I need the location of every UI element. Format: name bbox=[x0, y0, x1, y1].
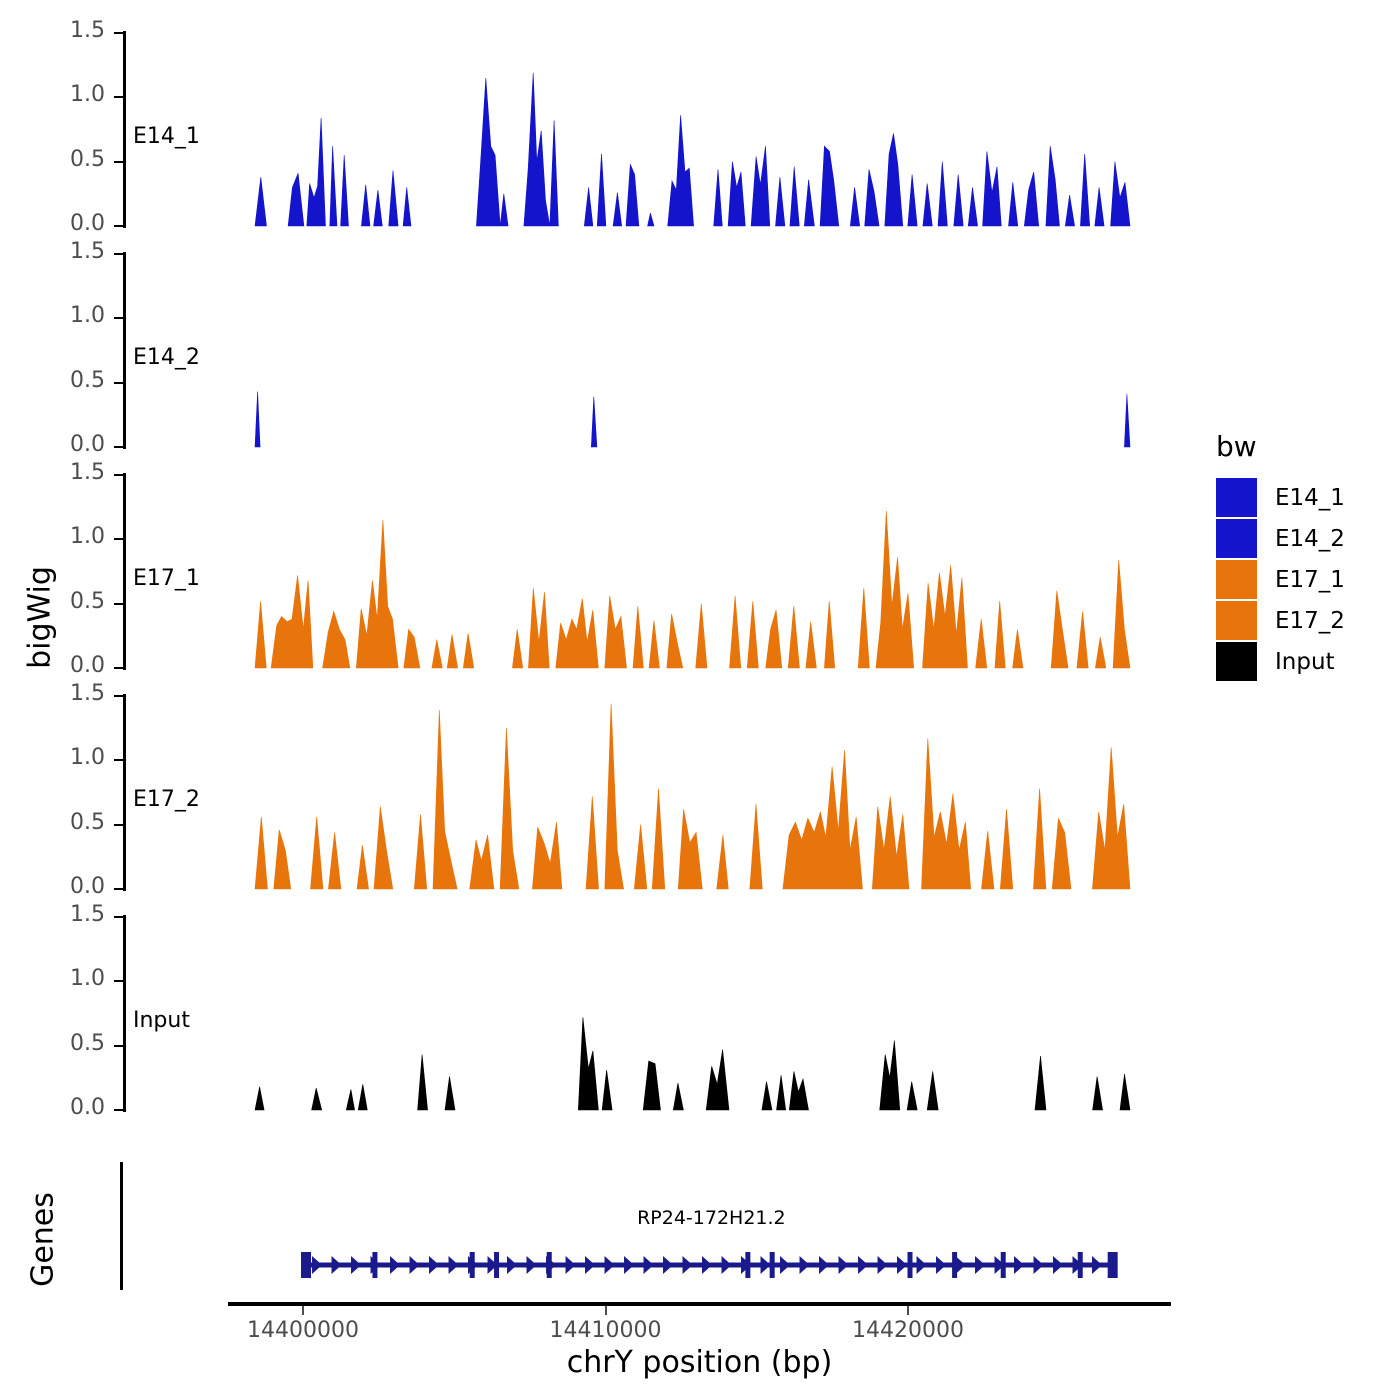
track-name-label: E17_1 bbox=[133, 566, 200, 591]
track-panel-e14_2: 0.00.51.01.5E14_2 bbox=[0, 0, 1400, 1400]
y-tick bbox=[114, 916, 123, 918]
legend-item-input[interactable]: Input bbox=[1216, 641, 1345, 682]
x-tick-label: 14400000 bbox=[213, 1318, 393, 1343]
y-tick bbox=[114, 161, 123, 163]
y-axis-line bbox=[123, 694, 126, 891]
y-tick bbox=[114, 1045, 123, 1047]
x-axis-line bbox=[228, 1302, 1171, 1306]
y-tick bbox=[114, 474, 123, 476]
legend-swatch bbox=[1216, 560, 1257, 599]
signal-area-e17_2[interactable] bbox=[0, 690, 1400, 891]
legend-swatch bbox=[1216, 601, 1257, 640]
legend-label: E14_2 bbox=[1275, 526, 1345, 552]
legend-title: bw bbox=[1216, 430, 1345, 463]
y-axis-line bbox=[123, 252, 126, 449]
y-tick-label: 1.0 bbox=[0, 966, 105, 991]
x-tick bbox=[302, 1306, 304, 1315]
gene-model-track[interactable] bbox=[0, 0, 1400, 1400]
y-tick-label: 1.0 bbox=[0, 82, 105, 107]
y-tick bbox=[114, 317, 123, 319]
y-axis-line bbox=[123, 31, 126, 228]
legend-label: E17_2 bbox=[1275, 608, 1345, 634]
y-tick bbox=[114, 538, 123, 540]
y-tick bbox=[114, 824, 123, 826]
x-axis-ticks: 144000001441000014420000 bbox=[0, 0, 1400, 1400]
y-tick-label: 1.5 bbox=[0, 460, 105, 485]
y-tick-label: 1.5 bbox=[0, 239, 105, 264]
legend-label: Input bbox=[1275, 649, 1335, 675]
legend-swatch bbox=[1216, 519, 1257, 558]
y-tick bbox=[114, 759, 123, 761]
y-tick bbox=[114, 603, 123, 605]
track-panel-e17_1: 0.00.51.01.5E17_1 bbox=[0, 0, 1400, 1400]
track-name-label: Input bbox=[133, 1008, 190, 1033]
y-tick-label: 0.5 bbox=[0, 368, 105, 393]
y-axis-line bbox=[123, 915, 126, 1112]
x-tick bbox=[907, 1306, 909, 1315]
y-tick bbox=[114, 888, 123, 890]
legend-item-e17_1[interactable]: E17_1 bbox=[1216, 559, 1345, 600]
x-tick bbox=[605, 1306, 607, 1315]
y-tick-label: 0.5 bbox=[0, 810, 105, 835]
y-tick-label: 0.0 bbox=[0, 211, 105, 236]
signal-area-e14_2[interactable] bbox=[0, 248, 1400, 449]
x-axis-title: chrY position (bp) bbox=[228, 1345, 1171, 1380]
legend-label: E14_1 bbox=[1275, 485, 1345, 511]
x-tick-label: 14420000 bbox=[818, 1318, 998, 1343]
y-tick bbox=[114, 253, 123, 255]
legend-swatch bbox=[1216, 478, 1257, 517]
track-panel-e14_1: 0.00.51.01.5E14_1 bbox=[0, 0, 1400, 1400]
signal-area-e14_1[interactable] bbox=[0, 27, 1400, 228]
y-tick bbox=[114, 32, 123, 34]
track-name-label: E14_1 bbox=[133, 124, 200, 149]
legend-items: E14_1E14_2E17_1E17_2Input bbox=[1216, 477, 1345, 682]
y-tick bbox=[114, 980, 123, 982]
y-tick bbox=[114, 1109, 123, 1111]
legend-item-e14_1[interactable]: E14_1 bbox=[1216, 477, 1345, 518]
track-panel-e17_2: 0.00.51.01.5E17_2 bbox=[0, 0, 1400, 1400]
y-tick-label: 1.0 bbox=[0, 745, 105, 770]
legend-swatch bbox=[1216, 642, 1257, 681]
y-tick bbox=[114, 667, 123, 669]
x-tick-label: 14410000 bbox=[516, 1318, 696, 1343]
legend-item-e17_2[interactable]: E17_2 bbox=[1216, 600, 1345, 641]
legend-item-e14_2[interactable]: E14_2 bbox=[1216, 518, 1345, 559]
legend: bw E14_1E14_2E17_1E17_2Input bbox=[1216, 430, 1345, 682]
y-tick-label: 1.0 bbox=[0, 303, 105, 328]
track-name-label: E14_2 bbox=[133, 345, 200, 370]
track-name-label: E17_2 bbox=[133, 787, 200, 812]
genes-axis-title: Genes bbox=[26, 1160, 61, 1320]
y-tick-label: 1.5 bbox=[0, 18, 105, 43]
y-tick-label: 0.5 bbox=[0, 1031, 105, 1056]
gene-label: RP24-172H21.2 bbox=[206, 1207, 1217, 1229]
y-tick bbox=[114, 695, 123, 697]
y-axis-title: bigWig bbox=[23, 538, 58, 698]
y-tick-label: 0.0 bbox=[0, 432, 105, 457]
y-tick bbox=[114, 225, 123, 227]
y-axis-line bbox=[123, 473, 126, 670]
signal-area-input[interactable] bbox=[0, 911, 1400, 1112]
y-tick bbox=[114, 382, 123, 384]
signal-area-e17_1[interactable] bbox=[0, 469, 1400, 670]
y-tick bbox=[114, 96, 123, 98]
track-panel-input: 0.00.51.01.5Input bbox=[0, 0, 1400, 1400]
y-tick-label: 0.0 bbox=[0, 1095, 105, 1120]
y-tick-label: 1.5 bbox=[0, 902, 105, 927]
gene-panel-axis bbox=[120, 1162, 123, 1290]
y-tick-label: 0.0 bbox=[0, 874, 105, 899]
legend-label: E17_1 bbox=[1275, 567, 1345, 593]
y-tick-label: 0.5 bbox=[0, 147, 105, 172]
y-tick bbox=[114, 446, 123, 448]
